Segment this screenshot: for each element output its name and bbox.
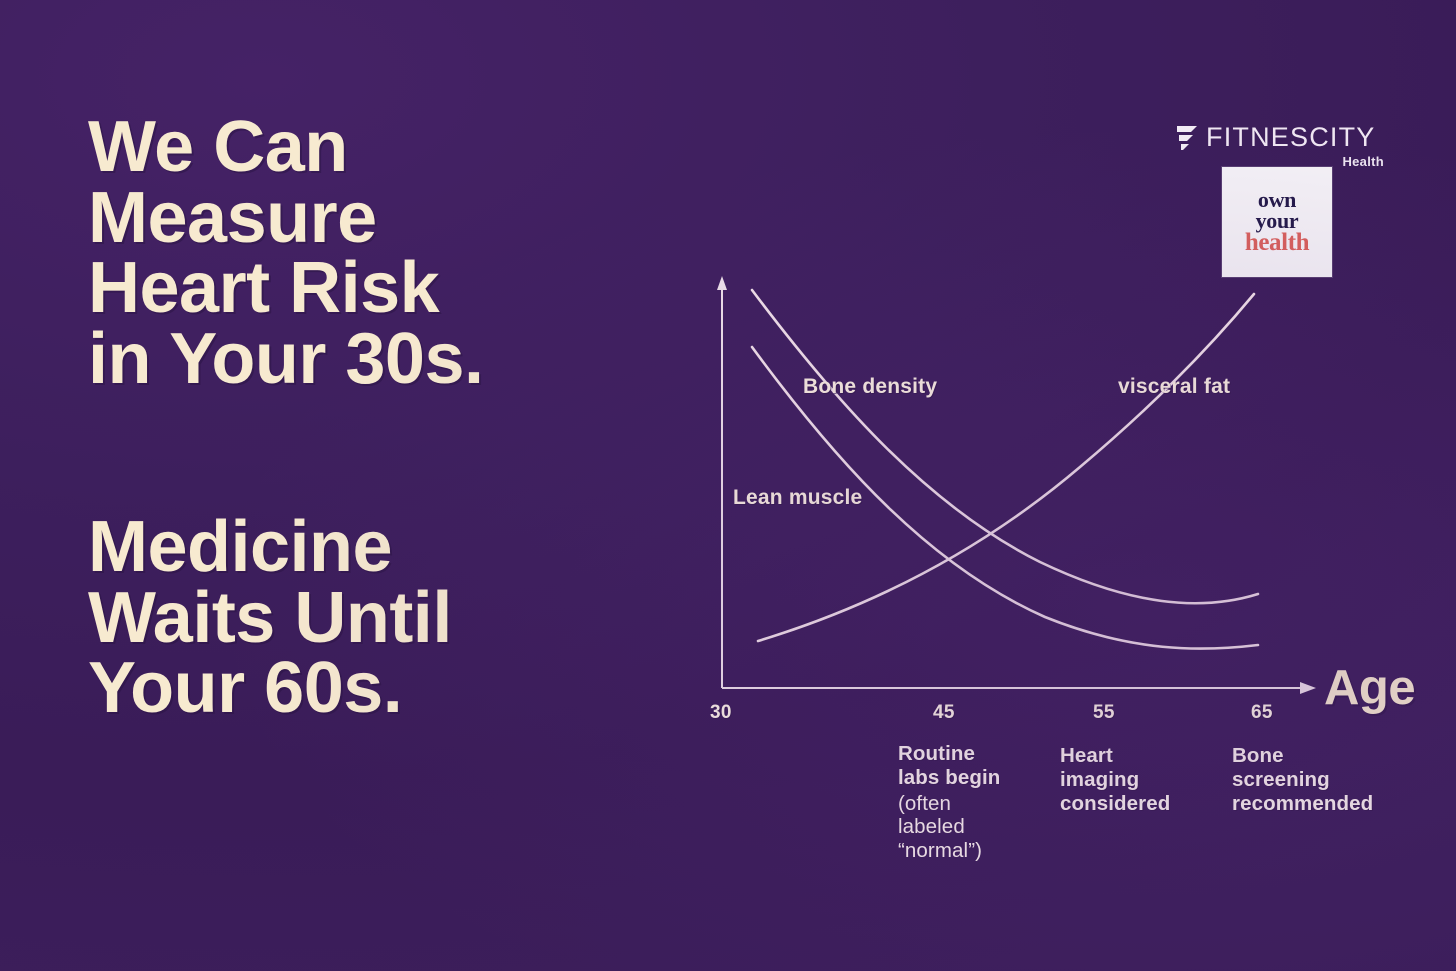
brand-logo-row: FITNESCITY xyxy=(1177,124,1387,151)
brand-wordmark: FITNESCITY xyxy=(1206,124,1376,151)
oyh-line-health: health xyxy=(1245,231,1309,254)
x-tick-55: 55 xyxy=(1093,702,1115,724)
annotation-bone-screening: Bone screening recommended xyxy=(1232,744,1422,815)
brand-logo-block: FITNESCITY Health xyxy=(1177,124,1387,169)
own-your-health-lockup: own your health xyxy=(1245,190,1309,253)
x-axis xyxy=(722,682,1316,694)
series-label-lean-muscle: Lean muscle xyxy=(733,486,862,510)
curve-visceral-fat xyxy=(758,294,1254,641)
annotation-heart-imaging: Heart imaging considered xyxy=(1060,744,1210,815)
headline-column: We Can Measure Heart Risk in Your 30s. M… xyxy=(88,112,608,724)
series-label-bone-density: Bone density xyxy=(803,375,937,399)
oyh-line-your: your xyxy=(1245,211,1309,231)
annotation-1-light: (often labeled “normal”) xyxy=(898,792,1050,863)
own-your-health-card: own your health xyxy=(1222,167,1332,277)
annotation-3-strong: Bone screening recommended xyxy=(1232,744,1422,815)
y-axis xyxy=(717,276,727,688)
series-label-visceral-fat: visceral fat xyxy=(1118,375,1230,399)
slide-canvas: We Can Measure Heart Risk in Your 30s. M… xyxy=(0,0,1456,971)
x-axis-title: Age xyxy=(1324,660,1415,716)
headline-primary: We Can Measure Heart Risk in Your 30s. xyxy=(88,112,608,394)
x-tick-45: 45 xyxy=(933,702,955,724)
x-tick-30: 30 xyxy=(710,702,732,724)
age-risk-chart: Bone density Lean muscle visceral fat xyxy=(700,262,1456,712)
fitnescity-chevron-bars-icon xyxy=(1177,125,1199,151)
annotation-routine-labs: Routine labs begin (often labeled “norma… xyxy=(898,742,1050,863)
annotation-1-strong: Routine labs begin xyxy=(898,742,1050,790)
curve-bone-density xyxy=(752,290,1258,603)
x-tick-65: 65 xyxy=(1251,702,1273,724)
headline-secondary: Medicine Waits Until Your 60s. xyxy=(88,512,608,724)
annotation-2-strong: Heart imaging considered xyxy=(1060,744,1210,815)
